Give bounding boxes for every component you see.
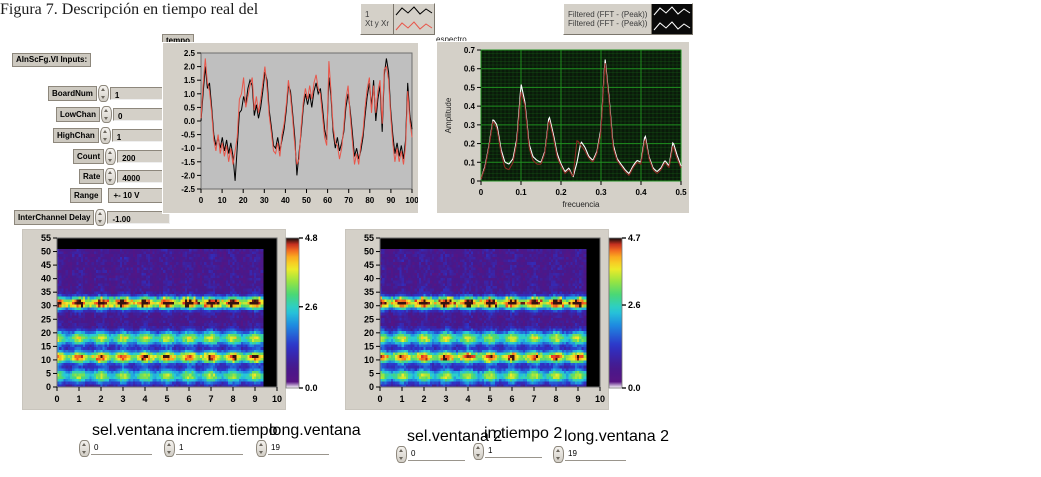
time-legend-entry-1: 1 xyxy=(365,10,389,19)
svg-text:0.6: 0.6 xyxy=(464,65,476,74)
svg-text:0.1: 0.1 xyxy=(515,188,527,197)
svg-text:0.4: 0.4 xyxy=(464,102,476,111)
svg-text:60: 60 xyxy=(323,196,332,205)
bottom-control-value[interactable]: 0 xyxy=(408,448,465,461)
spectrum-chart[interactable]: 00.10.20.30.40.50.60.700.10.20.30.40.5fr… xyxy=(436,41,690,214)
inputs-title: AInScFg.VI Inputs: xyxy=(12,53,91,67)
time-chart-legend[interactable]: 1 Xt y Xr xyxy=(360,3,435,35)
svg-text:-0.5: -0.5 xyxy=(181,131,195,140)
svg-text:0.4: 0.4 xyxy=(635,188,647,197)
control-lowchan-label: LowChan xyxy=(56,107,100,122)
spinner-icon[interactable] xyxy=(100,127,111,144)
control-range-value: +- 10 V xyxy=(113,191,139,200)
svg-text:90: 90 xyxy=(386,196,395,205)
time-legend-entry-2: Xt y Xr xyxy=(365,19,389,28)
bottom-control-value[interactable]: 1 xyxy=(176,442,243,455)
svg-text:0.5: 0.5 xyxy=(464,83,476,92)
spinner-icon[interactable] xyxy=(164,440,175,457)
control-interchannel-delay[interactable]: InterChannel Delay -1.00 xyxy=(14,210,170,225)
bottom-control-value[interactable]: 1 xyxy=(485,445,542,458)
spinner-icon[interactable] xyxy=(396,446,407,463)
spinner-icon[interactable] xyxy=(256,440,267,457)
bottom-control-label: long.ventana xyxy=(269,422,361,440)
svg-text:0.3: 0.3 xyxy=(595,188,607,197)
spectrogram-left[interactable]: 0510152025303540455055012345678910 xyxy=(22,229,286,410)
spectrum-legend-entry-2: Filtered (FFT - (Peak)) xyxy=(568,19,647,28)
spectrum-chart-legend[interactable]: Filtered (FFT - (Peak)) Filtered (FFT - … xyxy=(563,3,693,35)
svg-text:0.2: 0.2 xyxy=(555,188,567,197)
control-interchannel-delay-label: InterChannel Delay xyxy=(14,210,94,225)
svg-text:0.2: 0.2 xyxy=(464,140,476,149)
time-chart-canvas[interactable]: -2.5-2.0-1.5-1.0-0.50.00.51.01.52.02.501… xyxy=(163,43,418,213)
spectrum-legend-entry-1: Filtered (FFT - (Peak)) xyxy=(568,10,647,19)
svg-text:0.5: 0.5 xyxy=(184,103,196,112)
spinner-icon[interactable] xyxy=(101,106,112,123)
svg-text:50: 50 xyxy=(302,196,311,205)
svg-text:-1.5: -1.5 xyxy=(181,158,195,167)
spinner-icon[interactable] xyxy=(473,443,484,460)
svg-text:2.5: 2.5 xyxy=(184,49,196,58)
bottom-control-in-tiempo-right[interactable]: in.tiempo 2 1 xyxy=(472,425,562,460)
time-chart[interactable]: -2.5-2.0-1.5-1.0-0.50.00.51.01.52.02.501… xyxy=(162,42,419,214)
svg-text:70: 70 xyxy=(344,196,353,205)
spinner-icon[interactable] xyxy=(98,85,109,102)
spectrogram-left-colorbar[interactable]: 4.82.60.0 xyxy=(284,228,340,410)
bottom-control-value[interactable]: 19 xyxy=(268,442,329,455)
control-boardnum[interactable]: BoardNum 1 xyxy=(48,86,172,101)
svg-text:10: 10 xyxy=(218,196,227,205)
spectrogram-right[interactable]: 0510152025303540455055012345678910 xyxy=(345,229,609,410)
spinner-icon[interactable] xyxy=(105,148,116,165)
control-boardnum-label: BoardNum xyxy=(48,86,97,101)
svg-text:frecuencia: frecuencia xyxy=(563,200,600,209)
svg-text:100: 100 xyxy=(405,196,418,205)
spectrogram-right-colorbar[interactable]: 4.72.60.0 xyxy=(607,228,663,410)
svg-text:2.0: 2.0 xyxy=(184,63,196,72)
spinner-icon[interactable] xyxy=(95,209,106,226)
svg-text:0.1: 0.1 xyxy=(464,158,476,167)
svg-text:20: 20 xyxy=(239,196,248,205)
bottom-control-value[interactable]: 19 xyxy=(565,448,626,461)
control-lowchan[interactable]: LowChan 0 xyxy=(56,107,175,122)
svg-text:1.5: 1.5 xyxy=(184,76,196,85)
bottom-control-value[interactable]: 0 xyxy=(91,442,152,455)
spinner-icon[interactable] xyxy=(79,440,90,457)
time-legend-swatch-2[interactable] xyxy=(394,19,434,34)
bottom-control-label: long.ventana 2 xyxy=(564,428,669,446)
spectrogram-right-canvas[interactable]: 0510152025303540455055012345678910 xyxy=(346,230,608,409)
svg-text:-2.5: -2.5 xyxy=(181,185,195,194)
svg-text:0.3: 0.3 xyxy=(464,121,476,130)
svg-text:40: 40 xyxy=(281,196,290,205)
svg-text:1.0: 1.0 xyxy=(184,90,196,99)
time-legend-swatch-1[interactable] xyxy=(394,4,434,19)
spinner-icon[interactable] xyxy=(105,168,116,185)
spectrogram-left-canvas[interactable]: 0510152025303540455055012345678910 xyxy=(23,230,285,409)
svg-text:0.0: 0.0 xyxy=(184,117,196,126)
spinner-icon[interactable] xyxy=(553,446,564,463)
spectrum-legend-swatch-1[interactable] xyxy=(652,4,692,19)
control-rate-label: Rate xyxy=(79,169,104,184)
svg-text:0.7: 0.7 xyxy=(464,46,476,55)
svg-text:0: 0 xyxy=(471,177,476,186)
bottom-control-long-ventana-right[interactable]: long.ventana 2 19 xyxy=(552,428,669,463)
svg-text:-2.0: -2.0 xyxy=(181,171,195,180)
svg-text:30: 30 xyxy=(260,196,269,205)
svg-text:-1.0: -1.0 xyxy=(181,144,195,153)
control-highchan-label: HighChan xyxy=(53,128,99,143)
svg-text:0: 0 xyxy=(199,196,204,205)
control-range-label: Range xyxy=(70,188,102,203)
control-highchan[interactable]: HighChan 1 xyxy=(53,128,174,143)
bottom-control-long-ventana-left[interactable]: long.ventana 19 xyxy=(255,422,361,457)
spectrum-chart-canvas[interactable]: 00.10.20.30.40.50.60.700.10.20.30.40.5fr… xyxy=(437,42,689,213)
bottom-control-label: in.tiempo 2 xyxy=(484,425,562,443)
spectrum-legend-swatch-2[interactable] xyxy=(652,19,692,34)
svg-text:80: 80 xyxy=(365,196,374,205)
svg-text:0: 0 xyxy=(479,188,484,197)
control-count-label: Count xyxy=(73,149,104,164)
svg-text:Amplitude: Amplitude xyxy=(444,97,453,133)
svg-text:0.5: 0.5 xyxy=(675,188,687,197)
bottom-control-sel-ventana-left[interactable]: sel.ventana 0 xyxy=(78,422,174,457)
bottom-control-label: sel.ventana xyxy=(92,422,174,440)
